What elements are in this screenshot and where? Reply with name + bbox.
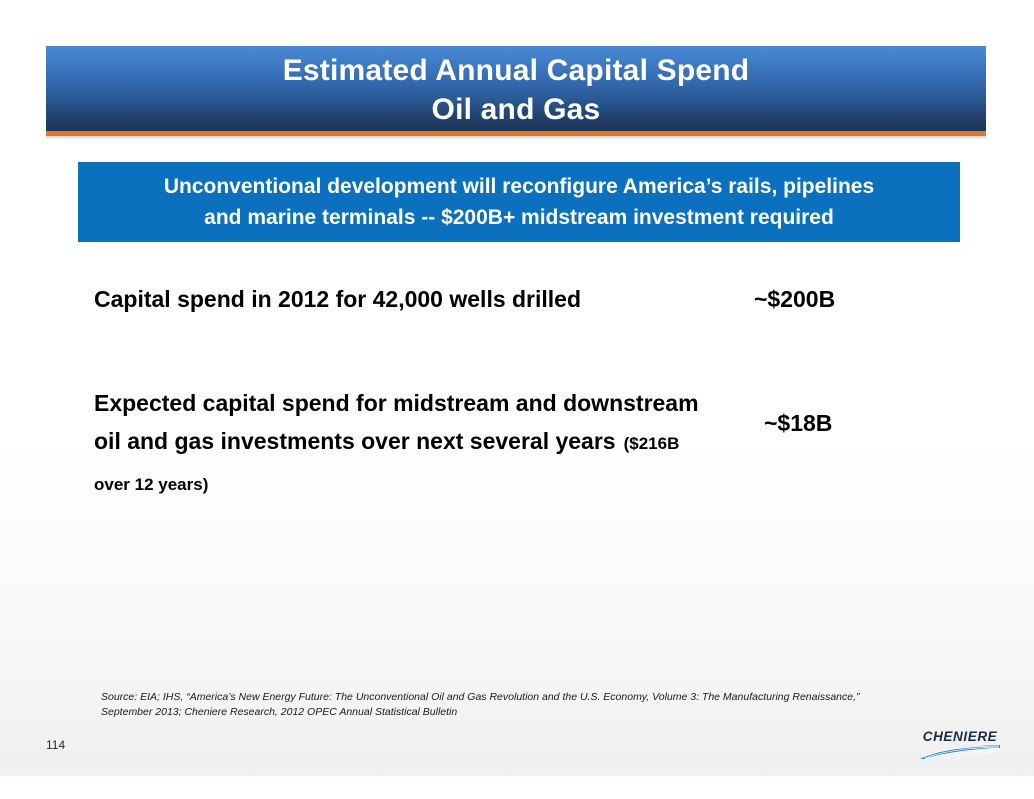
spend-row-label: Expected capital spend for midstream and… (94, 384, 714, 504)
source-footnote-line-1: Source: EIA; IHS, “America’s New Energy … (101, 690, 921, 705)
spend-row-value: ~$18B (764, 404, 832, 442)
spend-row-label: Capital spend in 2012 for 42,000 wells d… (94, 280, 714, 318)
spend-row-value: ~$200B (754, 280, 835, 318)
callout-box: Unconventional development will reconfig… (78, 162, 960, 242)
cheniere-logo-wordmark: CHENIERE (919, 729, 1001, 744)
title-banner: Estimated Annual Capital Spend Oil and G… (46, 46, 986, 131)
slide-title-line-1: Estimated Annual Capital Spend (283, 51, 750, 90)
spend-row-label-text: Capital spend in 2012 for 42,000 wells d… (94, 286, 581, 312)
slide-canvas: Estimated Annual Capital Spend Oil and G… (0, 0, 1034, 799)
spend-row-midstream-downstream: Expected capital spend for midstream and… (94, 384, 1034, 504)
banner-accent-shadow (46, 136, 986, 139)
body-content: Capital spend in 2012 for 42,000 wells d… (0, 280, 1034, 504)
spend-row-capital-2012: Capital spend in 2012 for 42,000 wells d… (94, 280, 1034, 318)
slide-title-line-2: Oil and Gas (432, 90, 601, 129)
source-footnote: Source: EIA; IHS, “America’s New Energy … (101, 690, 921, 719)
callout-line-2: and marine terminals -- $200B+ midstream… (204, 202, 834, 233)
source-footnote-line-2: September 2013; Cheniere Research, 2012 … (101, 705, 921, 720)
spend-row-label-text: Expected capital spend for midstream and… (94, 390, 699, 454)
cheniere-logo: CHENIERE (919, 729, 1001, 761)
page-number: 114 (46, 738, 65, 752)
cheniere-wave-icon (919, 745, 1001, 765)
callout-line-1: Unconventional development will reconfig… (164, 171, 874, 202)
